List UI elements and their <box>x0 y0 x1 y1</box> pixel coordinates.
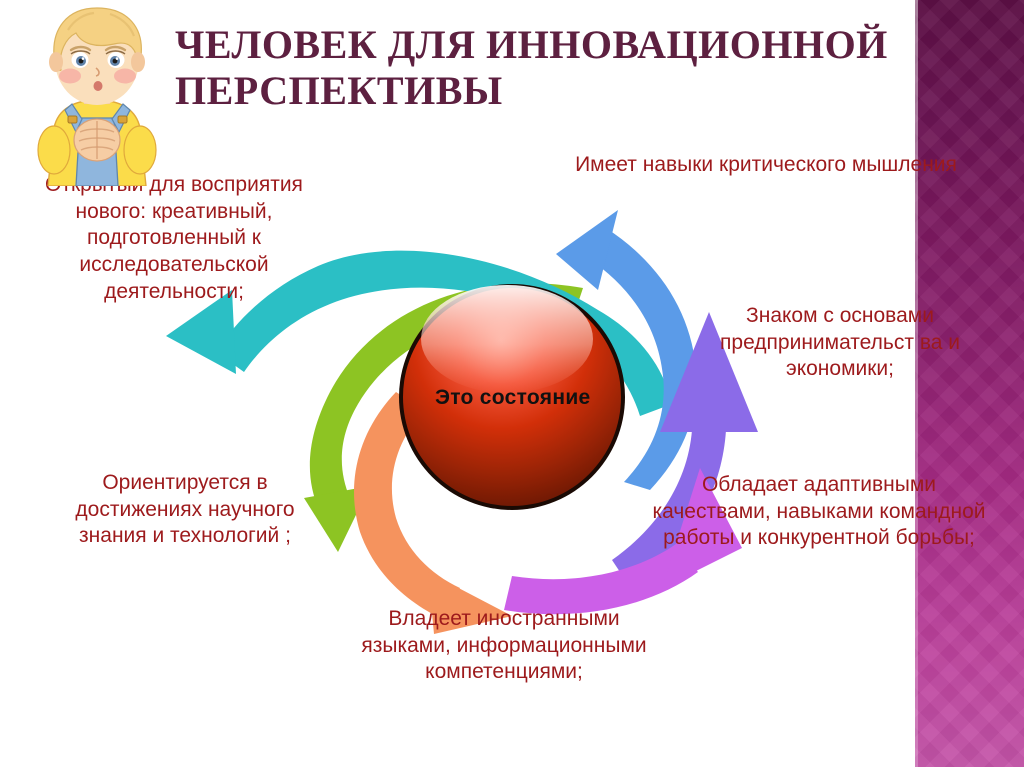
caption-critical-thinking: Имеет навыки критического мышления <box>556 152 976 179</box>
caption-foreign-languages: Владеет иностранными языками, информацио… <box>360 606 648 686</box>
page-title: ЧЕЛОВЕК ДЛЯ ИННОВАЦИОННОЙ ПЕРСПЕКТИВЫ <box>175 22 905 115</box>
caption-open-to-new: Открытый для восприятия нового: креативн… <box>24 172 324 305</box>
boy-illustration <box>24 0 170 186</box>
caption-adaptive-qualities: Обладает адаптивными качествами, навыкам… <box>652 472 986 552</box>
caption-entrepreneurship-basics: Знаком с основами предпринимательст ва и… <box>690 303 990 383</box>
caption-scientific-knowledge: Ориентируется в достижениях научного зна… <box>40 470 330 550</box>
center-sphere-label: Это состояние <box>435 386 591 410</box>
slide-canvas: ЧЕЛОВЕК ДЛЯ ИННОВАЦИОННОЙ ПЕРСПЕКТИВЫ От… <box>0 0 1024 767</box>
